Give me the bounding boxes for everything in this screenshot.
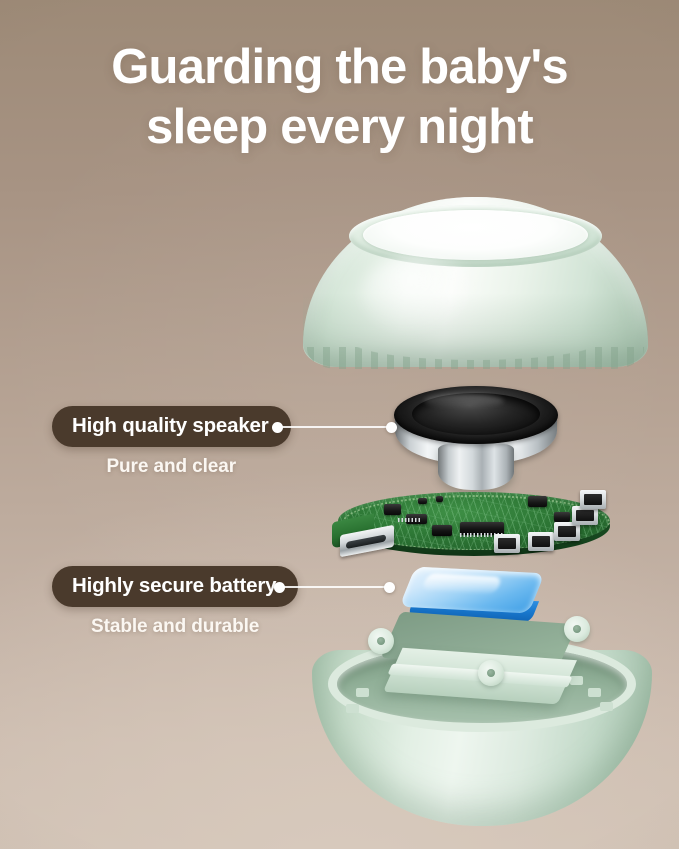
circuit-board [332,482,614,564]
bottom-housing-shell [312,618,652,826]
leader-dot-right [384,582,395,593]
product-infographic: Guarding the baby's sleep every night [0,0,679,849]
ic-chip [554,512,570,522]
callout-high-quality-speaker: High quality speaker Pure and clear [52,406,291,478]
light-diffuser-disc [363,210,588,260]
tactile-button [528,532,554,551]
ic-chip [528,496,547,507]
leader-line-battery [282,586,390,588]
top-dome-shell [303,197,648,369]
battery-compartment-tray [374,618,584,714]
dome-highlight [361,255,481,335]
ic-chip [436,496,443,502]
housing-notch [356,688,369,697]
callout-highly-secure-battery: Highly secure battery Stable and durable [52,566,298,638]
ic-chip [432,525,452,536]
leader-line-speaker [280,426,392,428]
speaker-driver [394,386,558,494]
housing-notch [588,688,601,697]
ic-chip [418,498,427,504]
callout-title-battery[interactable]: Highly secure battery [52,566,298,607]
housing-notch [346,704,359,713]
tactile-button [580,490,606,509]
screw-post [368,628,394,654]
leader-dot-right [386,422,397,433]
ic-chip [384,504,401,515]
screw-post [478,660,504,686]
callout-subtitle-battery: Stable and durable [52,616,298,638]
ic-chip-legs [398,518,420,522]
dome-notched-edge [307,347,644,369]
tactile-button [494,534,520,553]
screw-post [564,616,590,642]
speaker-highlight [424,394,504,408]
callout-title-speaker[interactable]: High quality speaker [52,406,291,447]
housing-notch [600,702,613,711]
callout-subtitle-speaker: Pure and clear [52,456,291,478]
